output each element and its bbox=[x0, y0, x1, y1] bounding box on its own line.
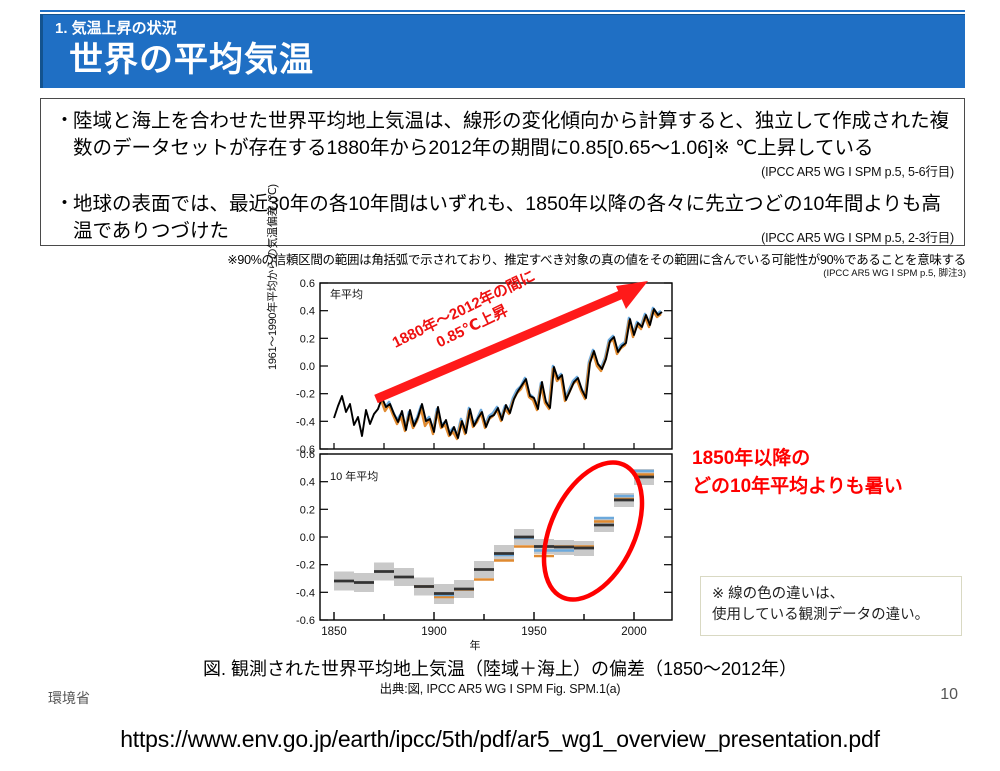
svg-text:0.6: 0.6 bbox=[300, 449, 315, 461]
svg-text:0.0: 0.0 bbox=[300, 361, 315, 373]
svg-text:-0.2: -0.2 bbox=[296, 389, 315, 401]
panel-tag-decadal: 10 年平均 bbox=[330, 468, 378, 484]
svg-text:-0.4: -0.4 bbox=[296, 416, 315, 428]
legend-note-line1: ※ 線の色の違いは、 bbox=[712, 584, 952, 605]
decadal-red-note-line1: 1850年以降の bbox=[692, 445, 903, 473]
svg-text:0.2: 0.2 bbox=[300, 504, 315, 516]
footnote-text: ※90%の信頼区間の範囲は角括弧で示されており、推定すべき対象の真の値をその範囲… bbox=[0, 249, 966, 268]
footnote-citation: (IPCC AR5 WG Ⅰ SPM p.5, 脚注3) bbox=[823, 265, 966, 279]
figure-source: 出典:図, IPCC AR5 WG Ⅰ SPM Fig. SPM.1(a) bbox=[0, 678, 1000, 697]
bullet-citation: (IPCC AR5 WG Ⅰ SPM p.5, 2-3行目) bbox=[761, 227, 954, 246]
legend-note-line2: 使用している観測データの違い。 bbox=[712, 605, 952, 626]
bullet-marker: ・ bbox=[55, 108, 74, 134]
footer-organization: 環境省 bbox=[48, 688, 90, 708]
bullet-item: ・ 陸域と海上を合わせた世界平均地上気温は、線形の変化傾向から計算すると、独立し… bbox=[55, 108, 954, 162]
svg-text:0.4: 0.4 bbox=[300, 477, 315, 489]
slide-root: 1. 気温上昇の状況 世界の平均気温 ・ 陸域と海上を合わせた世界平均地上気温は… bbox=[0, 0, 1000, 771]
svg-text:-0.6: -0.6 bbox=[296, 615, 315, 627]
footer-page-number: 10 bbox=[940, 686, 958, 704]
bullet-marker: ・ bbox=[55, 191, 74, 217]
svg-text:-0.4: -0.4 bbox=[296, 587, 315, 599]
slide-header: 1. 気温上昇の状況 世界の平均気温 bbox=[40, 14, 965, 88]
svg-text:0.0: 0.0 bbox=[300, 532, 315, 544]
legend-note-box: ※ 線の色の違いは、 使用している観測データの違い。 bbox=[700, 576, 962, 636]
page-title: 世界の平均気温 bbox=[69, 32, 314, 81]
bullet-text: 陸域と海上を合わせた世界平均地上気温は、線形の変化傾向から計算すると、独立して作… bbox=[55, 108, 954, 162]
panel-tag-annual: 年平均 bbox=[330, 286, 363, 302]
svg-text:0.2: 0.2 bbox=[300, 333, 315, 345]
footer-url[interactable]: https://www.env.go.jp/earth/ipcc/5th/pdf… bbox=[0, 726, 1000, 753]
svg-text:-0.2: -0.2 bbox=[296, 560, 315, 572]
bullet-citation: (IPCC AR5 WG Ⅰ SPM p.5, 5-6行目) bbox=[761, 161, 954, 180]
bullet-box: ・ 陸域と海上を合わせた世界平均地上気温は、線形の変化傾向から計算すると、独立し… bbox=[40, 98, 965, 246]
x-axis-label: 年 bbox=[270, 637, 680, 653]
y-axis-label: 1961～1990年平均からの気温偏差 (℃) bbox=[264, 120, 280, 370]
svg-text:0.4: 0.4 bbox=[300, 306, 315, 318]
svg-text:0.6: 0.6 bbox=[300, 278, 315, 290]
decadal-red-note-line2: どの10年平均よりも暑い bbox=[692, 473, 903, 501]
temperature-chart: 1961～1990年平均からの気温偏差 (℃) 年平均 10 年平均 年 bbox=[270, 278, 680, 648]
decadal-red-note: 1850年以降の どの10年平均よりも暑い bbox=[692, 445, 903, 500]
top-rule bbox=[40, 10, 965, 12]
